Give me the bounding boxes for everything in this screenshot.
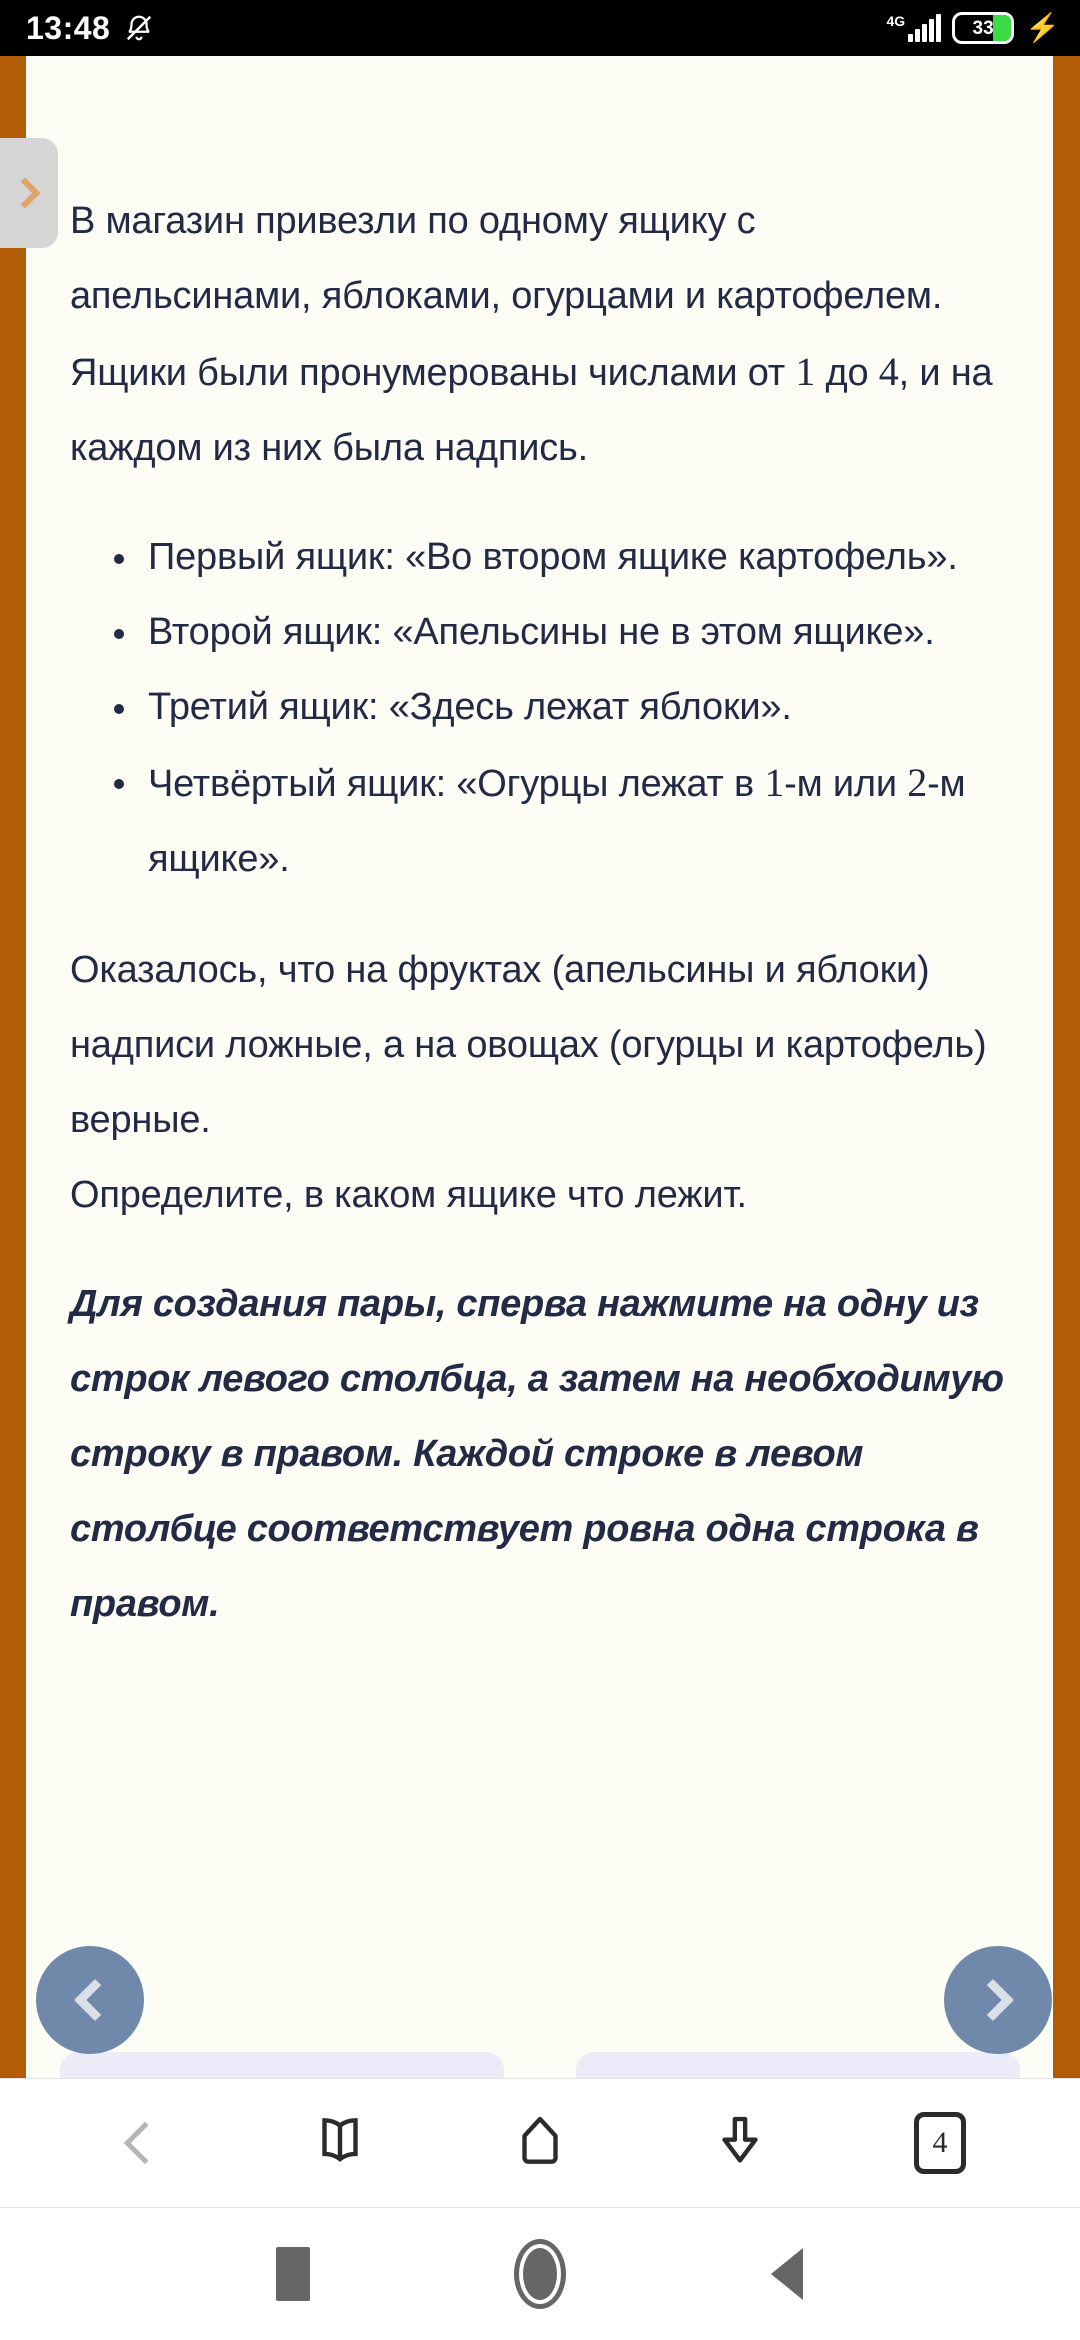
download-arrow-icon xyxy=(709,2110,771,2177)
charging-bolt-icon: ⚡ xyxy=(1025,14,1054,42)
network-type-label: 4G xyxy=(886,14,905,28)
network-indicator: 4G xyxy=(886,14,941,42)
recents-button[interactable] xyxy=(248,2229,338,2319)
intro-text-mid: до xyxy=(815,352,879,394)
drawer-handle[interactable] xyxy=(0,138,58,248)
back-button[interactable] xyxy=(85,2088,195,2198)
tabs-button[interactable]: 4 xyxy=(885,2088,995,2198)
intro-number-from: 1 xyxy=(795,349,815,394)
home-button[interactable] xyxy=(485,2088,595,2198)
list-item: Второй ящик: «Апельсины не в этом ящике»… xyxy=(70,595,1005,670)
chevron-left-icon xyxy=(124,2122,166,2164)
signal-bars-icon xyxy=(908,14,941,42)
battery-icon: 33 xyxy=(952,12,1014,44)
article-content: В магазин привезли по одному ящику с апе… xyxy=(26,56,1053,2078)
square-icon xyxy=(276,2247,310,2301)
bookmarks-button[interactable] xyxy=(285,2088,395,2198)
chevron-left-icon xyxy=(74,1979,116,2021)
back-button[interactable] xyxy=(742,2229,832,2319)
intro-paragraph: В магазин привезли по одному ящику с апе… xyxy=(70,184,1005,486)
circle-icon xyxy=(514,2239,566,2309)
previous-task-button[interactable] xyxy=(36,1946,144,2054)
home-icon xyxy=(509,2110,571,2177)
status-bar-right: 4G 33 ⚡ xyxy=(886,12,1054,44)
instruction-paragraph: Для создания пары, сперва нажмите на одн… xyxy=(70,1267,1005,1642)
status-bar: 13:48 4G 33 ⚡ xyxy=(0,0,1080,56)
system-navigation-bar xyxy=(0,2208,1080,2340)
chevron-right-icon xyxy=(9,177,40,208)
list-item: Первый ящик: «Во втором ящике картофель»… xyxy=(70,520,1005,595)
next-task-button[interactable] xyxy=(944,1946,1052,2054)
book-icon xyxy=(309,2110,371,2177)
bullet4-text-1: Четвёртый ящик: «Огурцы лежат в xyxy=(148,763,764,805)
home-button[interactable] xyxy=(495,2229,585,2319)
conclusion-paragraph: Оказалось, что на фруктах (апельсины и я… xyxy=(70,933,1005,1158)
question-paragraph: Определите, в каком ящике что лежит. xyxy=(70,1158,1005,1233)
status-bar-left: 13:48 xyxy=(26,12,154,44)
bell-off-icon xyxy=(124,12,154,44)
bullet4-number-2: 2 xyxy=(907,760,927,805)
tabs-icon: 4 xyxy=(914,2112,966,2174)
intro-number-to: 4 xyxy=(879,349,899,394)
box-labels-list: Первый ящик: «Во втором ящике картофель»… xyxy=(70,520,1005,897)
browser-toolbar: 4 xyxy=(0,2078,1080,2208)
matching-left-card[interactable] xyxy=(60,2052,504,2078)
status-clock: 13:48 xyxy=(26,12,110,44)
bullet4-number-1: 1 xyxy=(764,760,784,805)
matching-right-card[interactable] xyxy=(576,2052,1020,2078)
list-item: Четвёртый ящик: «Огурцы лежат в 1-м или … xyxy=(70,745,1005,897)
page-left-edge xyxy=(0,56,26,2078)
webview[interactable]: В магазин привезли по одному ящику с апе… xyxy=(0,56,1080,2078)
chevron-right-icon xyxy=(972,1979,1014,2021)
matching-columns xyxy=(60,2052,1020,2078)
downloads-button[interactable] xyxy=(685,2088,795,2198)
triangle-left-icon xyxy=(771,2248,803,2300)
list-item: Третий ящик: «Здесь лежат яблоки». xyxy=(70,670,1005,745)
page-right-edge xyxy=(1053,56,1080,2078)
bullet4-text-mid: -м или xyxy=(784,763,907,805)
battery-percent-label: 33 xyxy=(955,19,1011,38)
